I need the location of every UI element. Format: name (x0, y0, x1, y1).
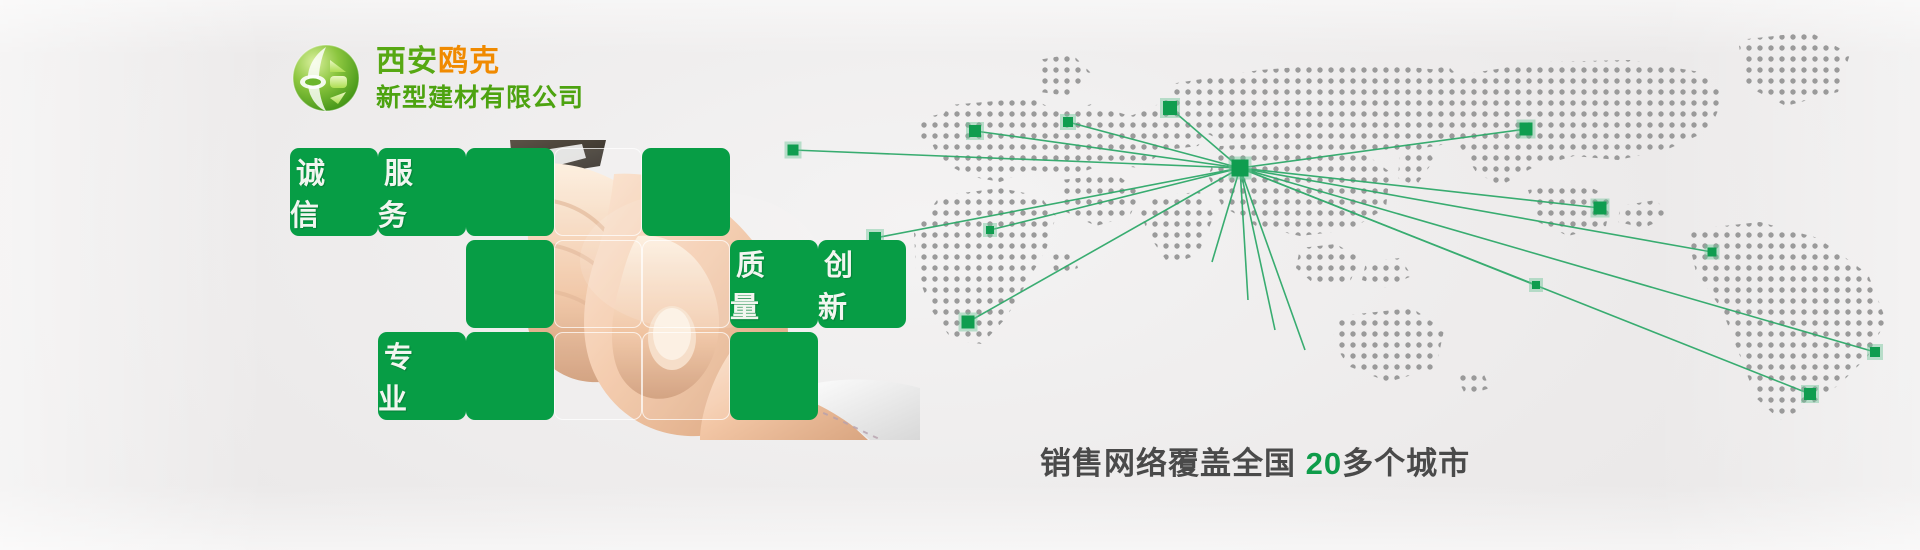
tile-r3c5[interactable] (642, 332, 730, 420)
tile-r3c4[interactable] (554, 332, 642, 420)
tile-quality-label: 质 量 (730, 240, 818, 328)
node-americas-mid[interactable] (1594, 202, 1607, 215)
globe-leaf-logo-icon (290, 42, 362, 114)
logo-city-text: 西安 (376, 45, 438, 78)
node-samerica-south[interactable] (1804, 388, 1816, 400)
tile-quality[interactable]: 质 量 (730, 240, 818, 328)
node-russia[interactable] (1163, 101, 1177, 115)
company-logo[interactable]: 西安鸥克 新型建材有限公司 (290, 42, 584, 114)
tile-innovation[interactable]: 创 新 (818, 240, 906, 328)
tile-professional[interactable]: 专 业 (378, 332, 466, 420)
tile-r1c5[interactable] (642, 148, 730, 236)
node-mideast[interactable] (986, 226, 994, 234)
tile-r1c3[interactable] (466, 148, 554, 236)
node-samerica-east[interactable] (1870, 347, 1880, 357)
tile-innovation-label: 创 新 (818, 240, 906, 328)
tile-r2c4[interactable] (554, 240, 642, 328)
node-europe-east[interactable] (1063, 117, 1073, 127)
tile-integrity-label: 诚 信 (290, 148, 378, 236)
tile-r3c6[interactable] (730, 332, 818, 420)
promo-banner: 西安鸥克 新型建材有限公司 (0, 0, 1920, 550)
tile-professional-label: 专 业 (378, 332, 466, 420)
tile-r3c3[interactable] (466, 332, 554, 420)
node-samerica-north[interactable] (1708, 248, 1717, 257)
tagline-prefix: 销售网络覆盖全国 (1040, 446, 1296, 481)
tile-service-label: 服 务 (378, 148, 466, 236)
handshake-mosaic: 诚 信 服 务 质 量 创 新 专 业 (290, 148, 910, 422)
logo-wordmark: 西安鸥克 新型建材有限公司 (376, 45, 584, 111)
tile-service[interactable]: 服 务 (378, 148, 466, 236)
node-africa-south[interactable] (962, 316, 975, 329)
logo-line-2: 新型建材有限公司 (376, 86, 584, 111)
logo-brand-text: 鸥克 (438, 45, 500, 78)
tagline-suffix: 多个城市 (1342, 446, 1470, 481)
node-americas-isle[interactable] (1532, 281, 1540, 289)
node-europe-north[interactable] (969, 125, 981, 137)
tile-r1c4[interactable] (554, 148, 642, 236)
logo-line-1: 西安鸥克 (376, 47, 584, 77)
tile-grid: 诚 信 服 务 质 量 创 新 专 业 (290, 148, 910, 422)
tagline-number: 20 (1306, 446, 1342, 481)
tile-r2c3[interactable] (466, 240, 554, 328)
tile-integrity[interactable]: 诚 信 (290, 148, 378, 236)
tile-r2c5[interactable] (642, 240, 730, 328)
tagline: 销售网络覆盖全国 20多个城市 (1040, 438, 1470, 483)
node-americas-north[interactable] (1520, 123, 1533, 136)
hub-node[interactable] (1232, 160, 1249, 177)
